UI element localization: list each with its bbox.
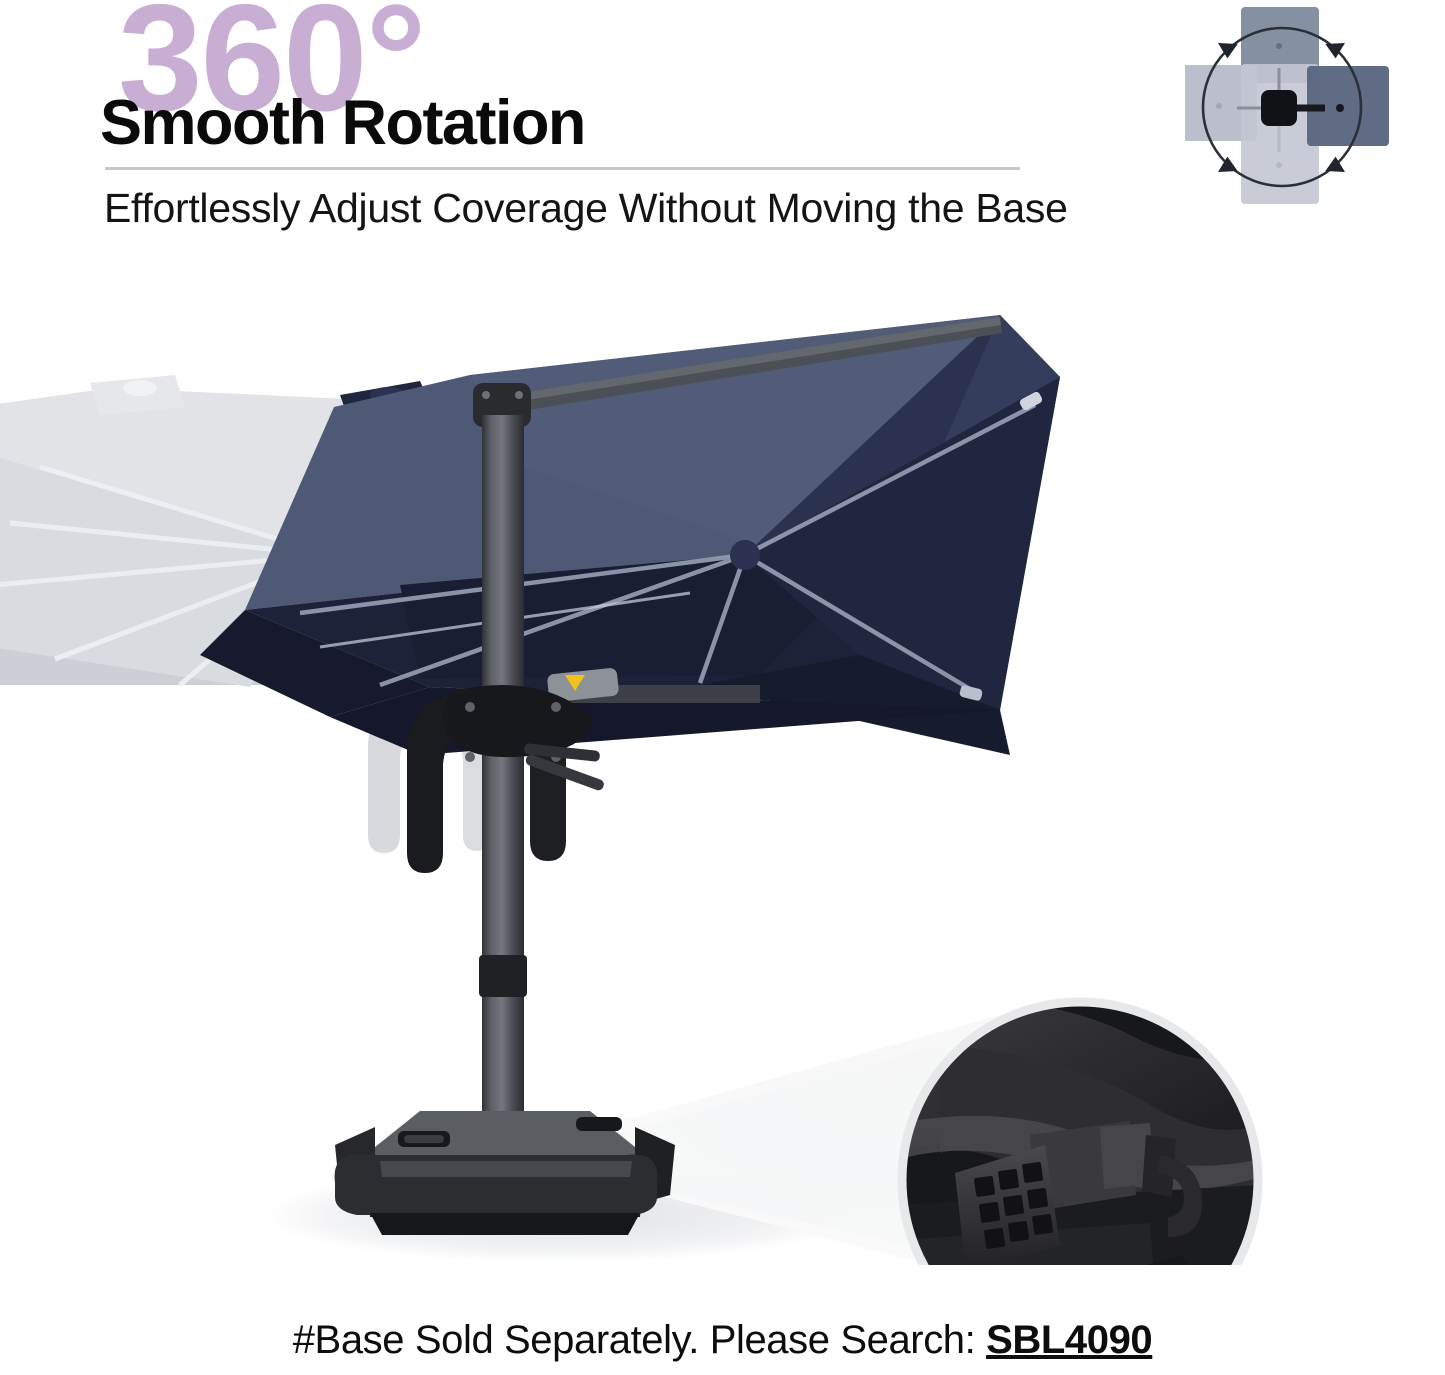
page-title: Smooth Rotation [100, 92, 585, 155]
pole-collar [479, 955, 527, 997]
center-base-icon [1261, 90, 1297, 126]
product-illustration [0, 255, 1445, 1265]
header-divider [105, 167, 1020, 170]
footer-sku: SBL4090 [986, 1318, 1152, 1362]
canopy-hub [730, 540, 760, 570]
360-rotation-diagram-icon [1185, 2, 1400, 217]
infographic-root: 360° Smooth Rotation Effortlessly Adjust… [0, 0, 1445, 1375]
pole-shaft [482, 415, 524, 1175]
footer-note: #Base Sold Separately. Please Search: SB… [0, 1318, 1445, 1363]
navy-cantilever-umbrella [200, 315, 1060, 755]
page-subtitle: Effortlessly Adjust Coverage Without Mov… [104, 188, 1068, 229]
footer-note-text: #Base Sold Separately. Please Search: [293, 1318, 976, 1362]
